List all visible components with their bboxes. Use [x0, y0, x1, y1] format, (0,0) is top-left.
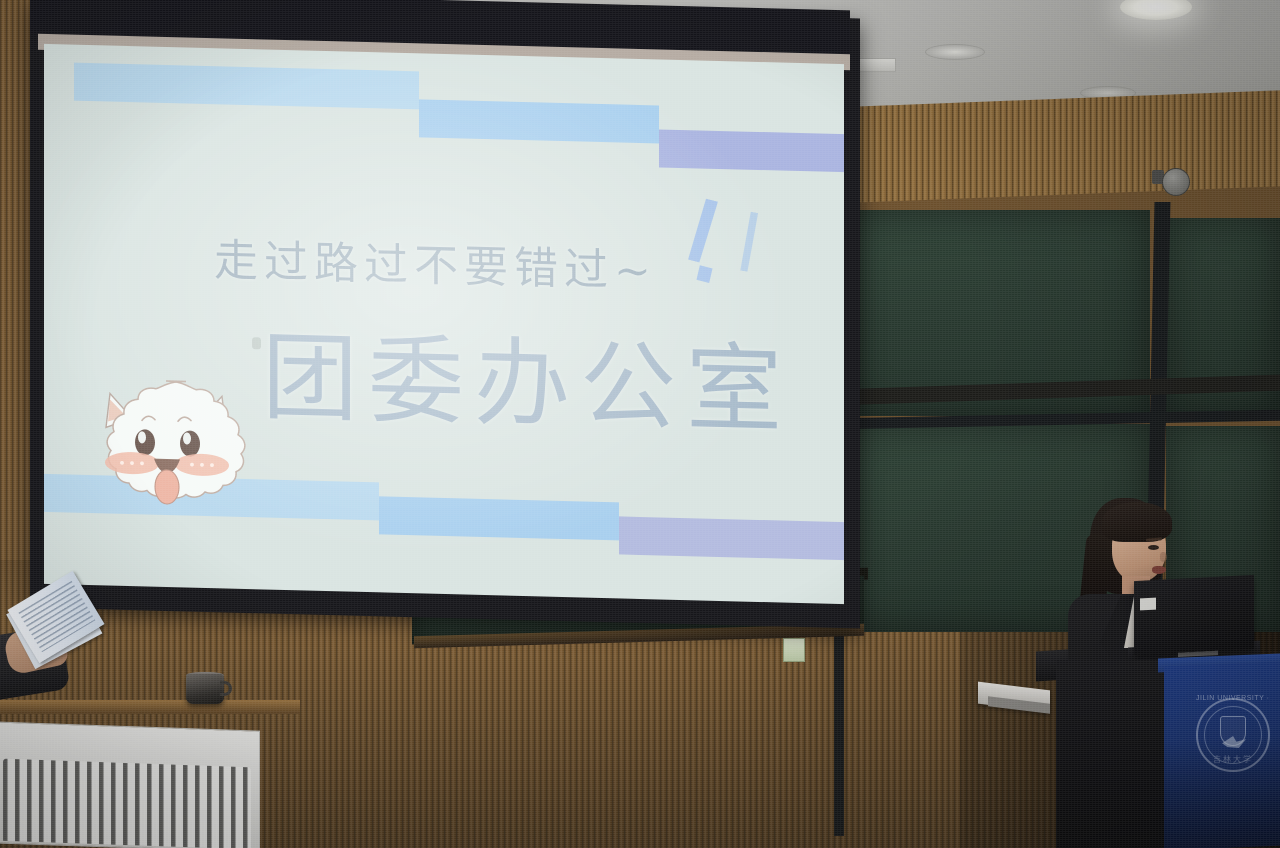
- slide-band-top-b: [419, 99, 659, 143]
- university-seal-text-bottom: 吉林大学: [1196, 754, 1270, 765]
- chalkboard: [836, 196, 1280, 632]
- presenter-eye: [1148, 545, 1159, 550]
- podium-body: [1056, 660, 1164, 848]
- chalk-box: [783, 638, 805, 662]
- laptop-lid: [1134, 575, 1254, 655]
- radiator-grille: [3, 759, 251, 848]
- slide-band-top-a: [74, 63, 419, 110]
- slide-band-top-c: [659, 129, 844, 173]
- slide-title: 团委办公室: [262, 299, 792, 451]
- wood-ledge: [0, 700, 300, 714]
- cat-illustration-icon: [66, 364, 266, 544]
- exclamation-mark-icon: [740, 211, 758, 272]
- slide-speck: [252, 337, 261, 349]
- slide-band-bottom-b: [379, 496, 619, 540]
- wall-radiator: [0, 721, 260, 848]
- exclamation-mark-icon: [687, 197, 718, 263]
- wood-panel-upper: [820, 90, 1280, 204]
- presenter-hair-front: [1102, 502, 1172, 542]
- presenter-nose: [1160, 552, 1167, 562]
- lecture-hall-photo: 走过路过不要错过~ 团委办公室: [0, 0, 1280, 848]
- wall-speaker-icon: [1162, 168, 1190, 196]
- ceiling-light-dim: [925, 44, 985, 60]
- presenter-mouth: [1152, 566, 1166, 574]
- presentation-slide: 走过路过不要错过~ 团委办公室: [44, 44, 844, 604]
- exclamation-dot-icon: [696, 265, 712, 283]
- slide-subtitle: 走过路过不要错过~: [214, 224, 657, 299]
- university-seal-text-top: JILIN UNIVERSITY · CHINA: [1196, 694, 1270, 724]
- laptop-sticker: [1140, 598, 1156, 611]
- slide-band-bottom-c: [619, 516, 844, 561]
- mug: [186, 674, 224, 704]
